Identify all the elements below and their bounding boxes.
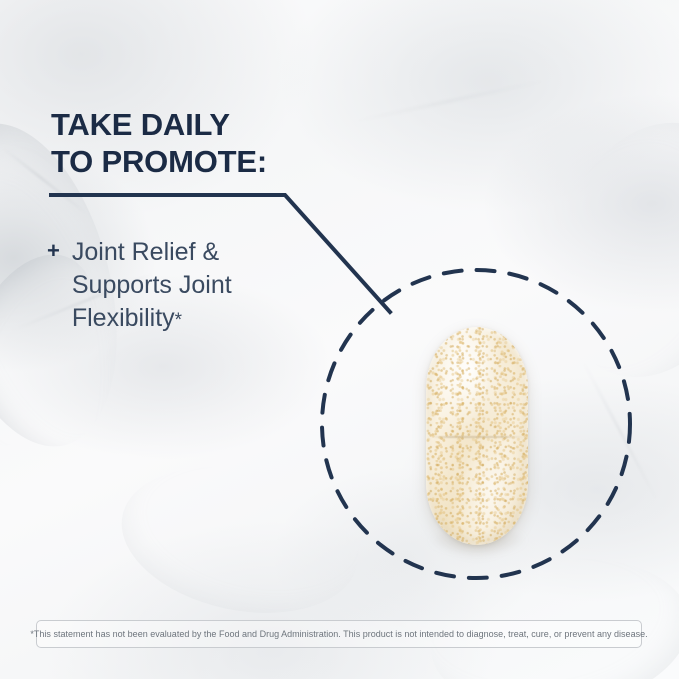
headline-line-1: TAKE DAILY	[51, 106, 471, 143]
benefit-line-1: Joint Relief &	[72, 236, 232, 269]
asterisk-marker: *	[175, 310, 182, 331]
benefit-text: Joint Relief & Supports Joint Flexibilit…	[72, 236, 232, 337]
tablet-score-line	[431, 436, 523, 438]
headline-line-2: TO PROMOTE:	[51, 143, 471, 180]
marble-vein	[421, 543, 679, 679]
marble-vein	[523, 97, 679, 403]
benefit-line-2: Supports Joint	[72, 269, 232, 302]
marble-background	[0, 0, 679, 679]
marble-vein	[108, 447, 372, 634]
benefit-line-3-text: Flexibility	[72, 304, 175, 332]
benefit-line-3: Flexibility*	[72, 302, 232, 337]
headline: TAKE DAILY TO PROMOTE:	[51, 106, 471, 180]
benefit-item: + Joint Relief & Supports Joint Flexibil…	[47, 236, 327, 337]
disclaimer-box: *This statement has not been evaluated b…	[36, 620, 642, 648]
plus-icon: +	[47, 236, 60, 266]
product-tablet	[426, 327, 528, 545]
tablet-body	[426, 327, 528, 545]
product-infographic: TAKE DAILY TO PROMOTE: + Joint Relief & …	[0, 0, 679, 679]
marble-streak	[582, 360, 659, 502]
disclaimer-text: *This statement has not been evaluated b…	[30, 628, 647, 640]
